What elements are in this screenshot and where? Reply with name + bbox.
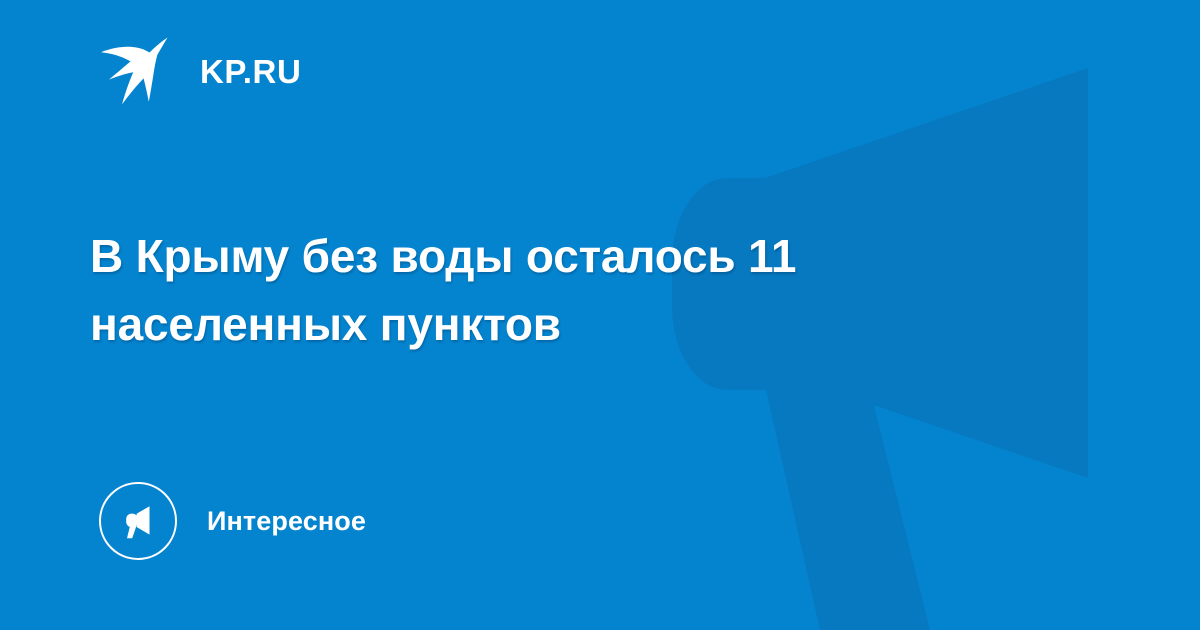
category-badge[interactable]: Интересное — [99, 482, 366, 560]
brand-wordmark: KP.RU — [200, 55, 301, 88]
social-share-card: KP.RU В Крыму без воды осталось 11 насел… — [0, 0, 1200, 630]
megaphone-icon — [118, 501, 158, 541]
category-icon-circle — [99, 482, 177, 560]
brand-header[interactable]: KP.RU — [100, 34, 301, 108]
headline-title: В Крыму без воды осталось 11 населенных … — [90, 222, 990, 358]
category-label: Интересное — [207, 508, 366, 535]
swallow-bird-icon — [100, 36, 178, 106]
